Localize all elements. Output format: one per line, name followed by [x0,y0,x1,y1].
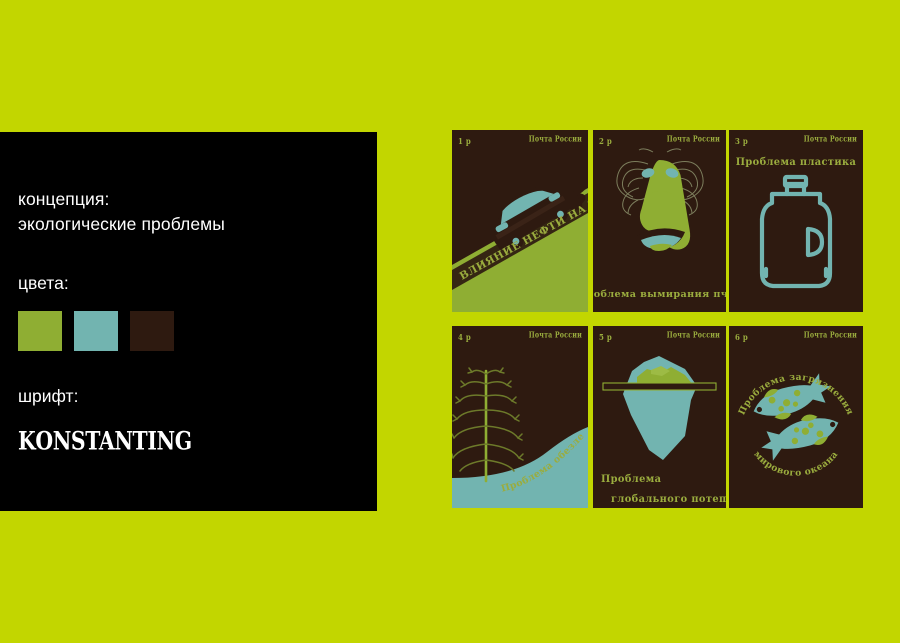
font-sample-ornament-letter: O [35,426,52,456]
stamp-3-issuer: Почта России [804,135,857,144]
stamp-6-denomination: 6 р [735,331,748,342]
concept-label: концепция: [18,187,377,212]
font-sample: KONSTANTING [18,426,192,456]
spacer-after-colors [18,351,377,384]
stamp-4-deforestation[interactable]: Проблема обезлесения 4 р Почта России [452,326,588,508]
brief-panel: концепция: экологические проблемы цвета:… [0,132,377,511]
color-swatch-dark-brown [130,311,174,351]
stamp-5-artwork: Проблема глобального потепления [593,326,726,508]
stamp-3-artwork: Проблема пластика [729,130,863,312]
spacer-after-concept [18,237,377,271]
color-swatch-row [18,311,377,351]
stamp-4-denomination: 4 р [458,331,471,342]
stamp-5-denomination: 5 р [599,331,612,342]
stamp-5-global-warming[interactable]: Проблема глобального потепления 5 р Почт… [593,326,726,508]
stamp-2-bee-extinction[interactable]: 2 р Почта России Проблема вымирания пчел [593,130,726,312]
stamp-1-issuer: Почта России [529,135,582,144]
stamp-row-top: ВЛИЯНИЕ НЕФТИ НА ПЛАНЕТУ 1 р Почта Росси… [452,130,863,312]
stamp-6-artwork: Проблема загрязнения мирового океана [729,326,863,508]
stamp-2-caption: Проблема вымирания пчел [593,289,726,300]
font-sample-post: NSTANTING [53,426,192,456]
stamp-5-caption-line-1: Проблема [601,474,662,485]
stamp-4-issuer: Почта России [529,331,582,340]
stamp-1-denomination: 1 р [458,135,471,146]
stamp-5-caption-line-2: глобального потепления [611,494,726,505]
stamp-sheet: ВЛИЯНИЕ НЕФТИ НА ПЛАНЕТУ 1 р Почта Росси… [452,130,863,515]
stamp-3-caption: Проблема пластика [736,157,857,168]
font-label: шрифт: [18,384,377,409]
stamp-3-plastic[interactable]: Проблема пластика 3 р Почта России [729,130,863,312]
color-swatch-teal [74,311,118,351]
stamp-6-issuer: Почта России [804,331,857,340]
colors-label: цвета: [18,271,377,296]
stamp-4-artwork: Проблема обезлесения [452,326,588,508]
stamp-3-denomination: 3 р [735,135,748,146]
stamp-6-caption-arc-bottom: мирового океана [751,449,840,479]
stamp-2-caption-layer: Проблема вымирания пчел [593,130,726,312]
stamp-1-oil-impact[interactable]: ВЛИЯНИЕ НЕФТИ НА ПЛАНЕТУ 1 р Почта Росси… [452,130,588,312]
stamp-row-bottom: Проблема обезлесения 4 р Почта России [452,326,863,508]
color-swatch-olive-green [18,311,62,351]
stamp-6-ocean-pollution[interactable]: Проблема загрязнения мирового океана 6 р… [729,326,863,508]
concept-value: экологические проблемы [18,212,377,237]
stamp-1-artwork: ВЛИЯНИЕ НЕФТИ НА ПЛАНЕТУ [452,130,588,312]
poster-canvas: концепция: экологические проблемы цвета:… [0,0,900,643]
font-sample-pre: K [18,426,35,456]
stamp-5-issuer: Почта России [667,331,720,340]
